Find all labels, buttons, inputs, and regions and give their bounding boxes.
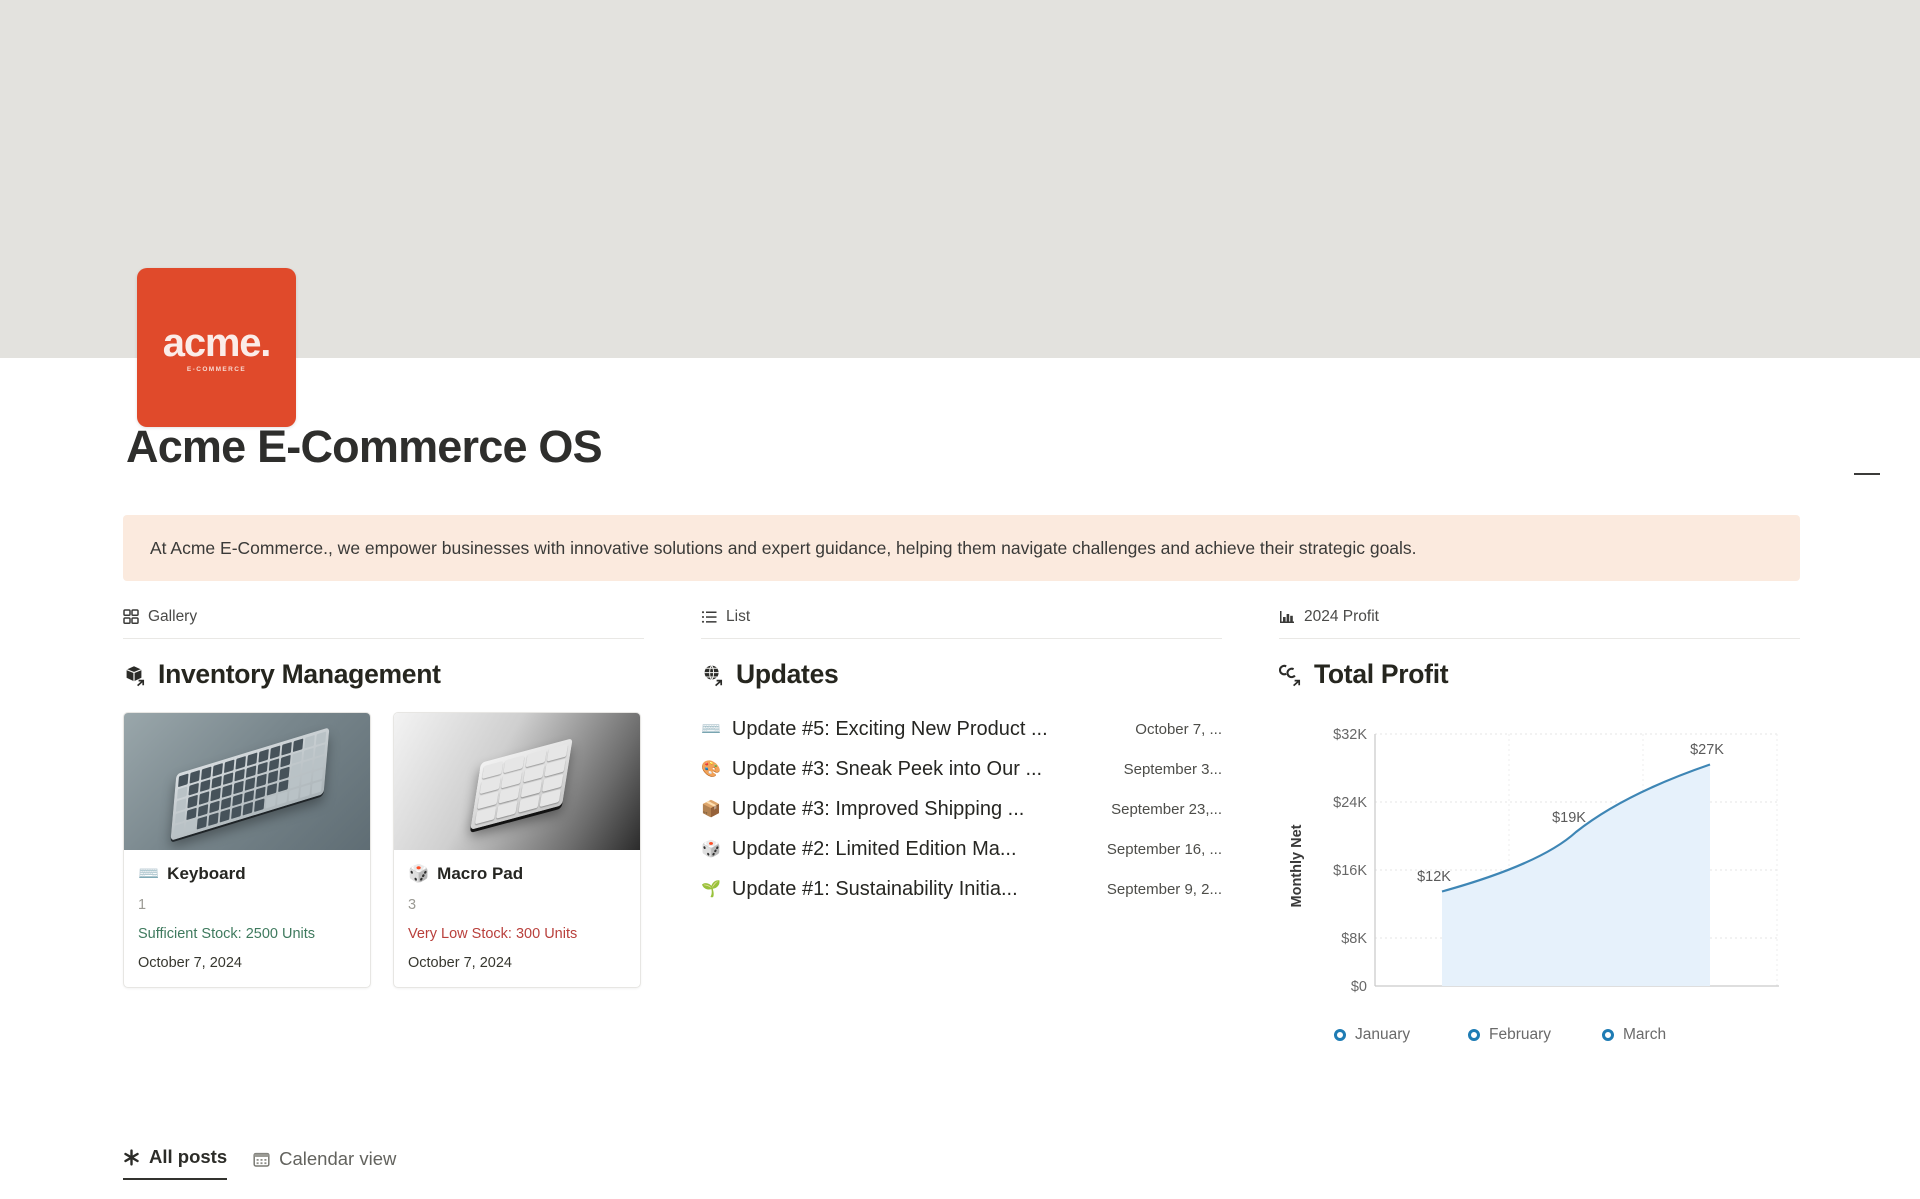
chart-divider xyxy=(1279,638,1800,639)
calendar-icon xyxy=(253,1151,270,1168)
gallery-cards: ⌨️ Keyboard 1 Sufficient Stock: 2500 Uni… xyxy=(123,712,644,988)
view-tab-2024-profit-label: 2024 Profit xyxy=(1304,608,1379,626)
gallery-card-macro-pad[interactable]: 🎲 Macro Pad 3 Very Low Stock: 300 Units … xyxy=(393,712,641,988)
view-tab-gallery-label: Gallery xyxy=(148,608,197,626)
list-item-date: September 9, 2... xyxy=(1107,881,1222,898)
card-title-row: ⌨️ Keyboard xyxy=(138,864,356,884)
svg-text:$12K: $12K xyxy=(1417,869,1451,885)
dice-emoji: 🎲 xyxy=(701,839,721,859)
card-product-name: Keyboard xyxy=(167,864,245,884)
asterisk-icon xyxy=(123,1149,140,1166)
profit-area-chart[interactable]: $32K $24K $16K $8K $0 $12K $19K $27K Mon… xyxy=(1279,714,1800,1044)
callout-text: At Acme E-Commerce., we empower business… xyxy=(150,536,1417,561)
list-title-label: Updates xyxy=(736,659,838,690)
gallery-title[interactable]: Inventory Management xyxy=(123,659,644,690)
legend-dot-icon xyxy=(1468,1029,1480,1041)
list-item-date: September 23,... xyxy=(1111,801,1222,818)
tab-calendar-view[interactable]: Calendar view xyxy=(253,1148,396,1180)
palette-emoji: 🎨 xyxy=(701,759,721,779)
bar-chart-icon xyxy=(1279,609,1295,625)
keyboard-emoji: ⌨️ xyxy=(701,719,721,739)
legend-item-february[interactable]: February xyxy=(1468,1026,1602,1044)
card-stock-status: Sufficient Stock: 2500 Units xyxy=(138,926,356,942)
card-number: 1 xyxy=(138,897,356,913)
card-stock-status: Very Low Stock: 300 Units xyxy=(408,926,626,942)
list-item-title: Update #3: Sneak Peek into Our ... xyxy=(732,758,1042,781)
card-body: 🎲 Macro Pad 3 Very Low Stock: 300 Units … xyxy=(394,850,640,987)
svg-text:$32K: $32K xyxy=(1333,727,1367,743)
svg-text:$27K: $27K xyxy=(1690,742,1724,758)
dice-emoji: 🎲 xyxy=(408,864,429,884)
gallery-divider xyxy=(123,638,644,639)
view-tab-gallery[interactable]: Gallery xyxy=(123,600,644,633)
chart-legend: January February March xyxy=(1334,1026,1800,1044)
seedling-emoji: 🌱 xyxy=(701,879,721,899)
chart-column: 2024 Profit Total Profit xyxy=(1279,600,1800,1044)
legend-item-march[interactable]: March xyxy=(1602,1026,1666,1044)
grid-icon xyxy=(123,609,139,625)
keyboard-photo xyxy=(124,713,370,850)
card-title-row: 🎲 Macro Pad xyxy=(408,864,626,884)
list-item-title: Update #1: Sustainability Initia... xyxy=(732,878,1018,901)
list-item-date: September 3... xyxy=(1124,761,1222,778)
tab-calendar-view-label: Calendar view xyxy=(279,1148,396,1170)
list-item[interactable]: ⌨️ Update #5: Exciting New Product ... O… xyxy=(701,709,1222,749)
list-item-date: October 7, ... xyxy=(1135,721,1222,738)
callout-banner: At Acme E-Commerce., we empower business… xyxy=(123,515,1800,581)
bottom-tab-bar: All posts Calendar view xyxy=(123,1146,396,1180)
tab-all-posts-label: All posts xyxy=(149,1146,227,1168)
chart-svg: $32K $24K $16K $8K $0 $12K $19K $27K Mon… xyxy=(1279,714,1800,1014)
view-tab-list-label: List xyxy=(726,608,750,626)
svg-text:$24K: $24K xyxy=(1333,795,1367,811)
gallery-card-keyboard[interactable]: ⌨️ Keyboard 1 Sufficient Stock: 2500 Uni… xyxy=(123,712,371,988)
minus-icon[interactable] xyxy=(1854,473,1880,475)
list-item-title: Update #2: Limited Edition Ma... xyxy=(732,838,1017,861)
page-title: Acme E-Commerce OS xyxy=(126,421,602,473)
svg-text:$16K: $16K xyxy=(1333,863,1367,879)
card-body: ⌨️ Keyboard 1 Sufficient Stock: 2500 Uni… xyxy=(124,850,370,987)
view-tab-list[interactable]: List xyxy=(701,600,1222,633)
logo-wordmark: acme. xyxy=(163,323,270,363)
list-item[interactable]: 🎲 Update #2: Limited Edition Ma... Septe… xyxy=(701,829,1222,869)
package-emoji: 📦 xyxy=(701,799,721,819)
legend-dot-icon xyxy=(1602,1029,1614,1041)
legend-label: January xyxy=(1355,1026,1410,1044)
page-content: Acme E-Commerce OS At Acme E-Commerce., … xyxy=(0,358,1920,1199)
list-divider xyxy=(701,638,1222,639)
list-item[interactable]: 🌱 Update #1: Sustainability Initia... Se… xyxy=(701,869,1222,909)
list-item-title: Update #5: Exciting New Product ... xyxy=(732,718,1048,741)
list-item[interactable]: 📦 Update #3: Improved Shipping ... Septe… xyxy=(701,789,1222,829)
card-product-name: Macro Pad xyxy=(437,864,523,884)
view-tab-2024-profit[interactable]: 2024 Profit xyxy=(1279,600,1800,633)
acme-logo: acme. E-COMMERCE xyxy=(137,268,296,427)
logo-subtitle: E-COMMERCE xyxy=(187,366,246,373)
currency-exchange-link-icon xyxy=(1279,663,1303,687)
card-date: October 7, 2024 xyxy=(138,955,356,971)
box-link-icon xyxy=(123,663,147,687)
globe-link-icon xyxy=(701,663,725,687)
svg-text:$19K: $19K xyxy=(1552,810,1586,826)
chart-title-label: Total Profit xyxy=(1314,659,1448,690)
legend-dot-icon xyxy=(1334,1029,1346,1041)
list-item[interactable]: 🎨 Update #3: Sneak Peek into Our ... Sep… xyxy=(701,749,1222,789)
legend-item-january[interactable]: January xyxy=(1334,1026,1468,1044)
legend-label: February xyxy=(1489,1026,1551,1044)
svg-text:Monthly Net: Monthly Net xyxy=(1289,824,1305,907)
svg-text:$8K: $8K xyxy=(1341,931,1367,947)
gallery-column: Gallery Inventory Management xyxy=(123,600,644,1044)
updates-list: ⌨️ Update #5: Exciting New Product ... O… xyxy=(701,709,1222,909)
chart-title[interactable]: Total Profit xyxy=(1279,659,1800,690)
keyboard-emoji: ⌨️ xyxy=(138,864,159,884)
tab-all-posts[interactable]: All posts xyxy=(123,1146,227,1180)
list-column: List Updates ⌨️ Update #5: Excitin xyxy=(701,600,1222,1044)
legend-label: March xyxy=(1623,1026,1666,1044)
list-item-title: Update #3: Improved Shipping ... xyxy=(732,798,1024,821)
list-item-date: September 16, ... xyxy=(1107,841,1222,858)
card-number: 3 xyxy=(408,897,626,913)
macropad-photo xyxy=(394,713,640,850)
list-title[interactable]: Updates xyxy=(701,659,1222,690)
list-icon xyxy=(701,609,717,625)
card-date: October 7, 2024 xyxy=(408,955,626,971)
svg-text:$0: $0 xyxy=(1351,979,1367,995)
gallery-title-label: Inventory Management xyxy=(158,659,441,690)
columns-container: Gallery Inventory Management xyxy=(123,600,1800,1044)
